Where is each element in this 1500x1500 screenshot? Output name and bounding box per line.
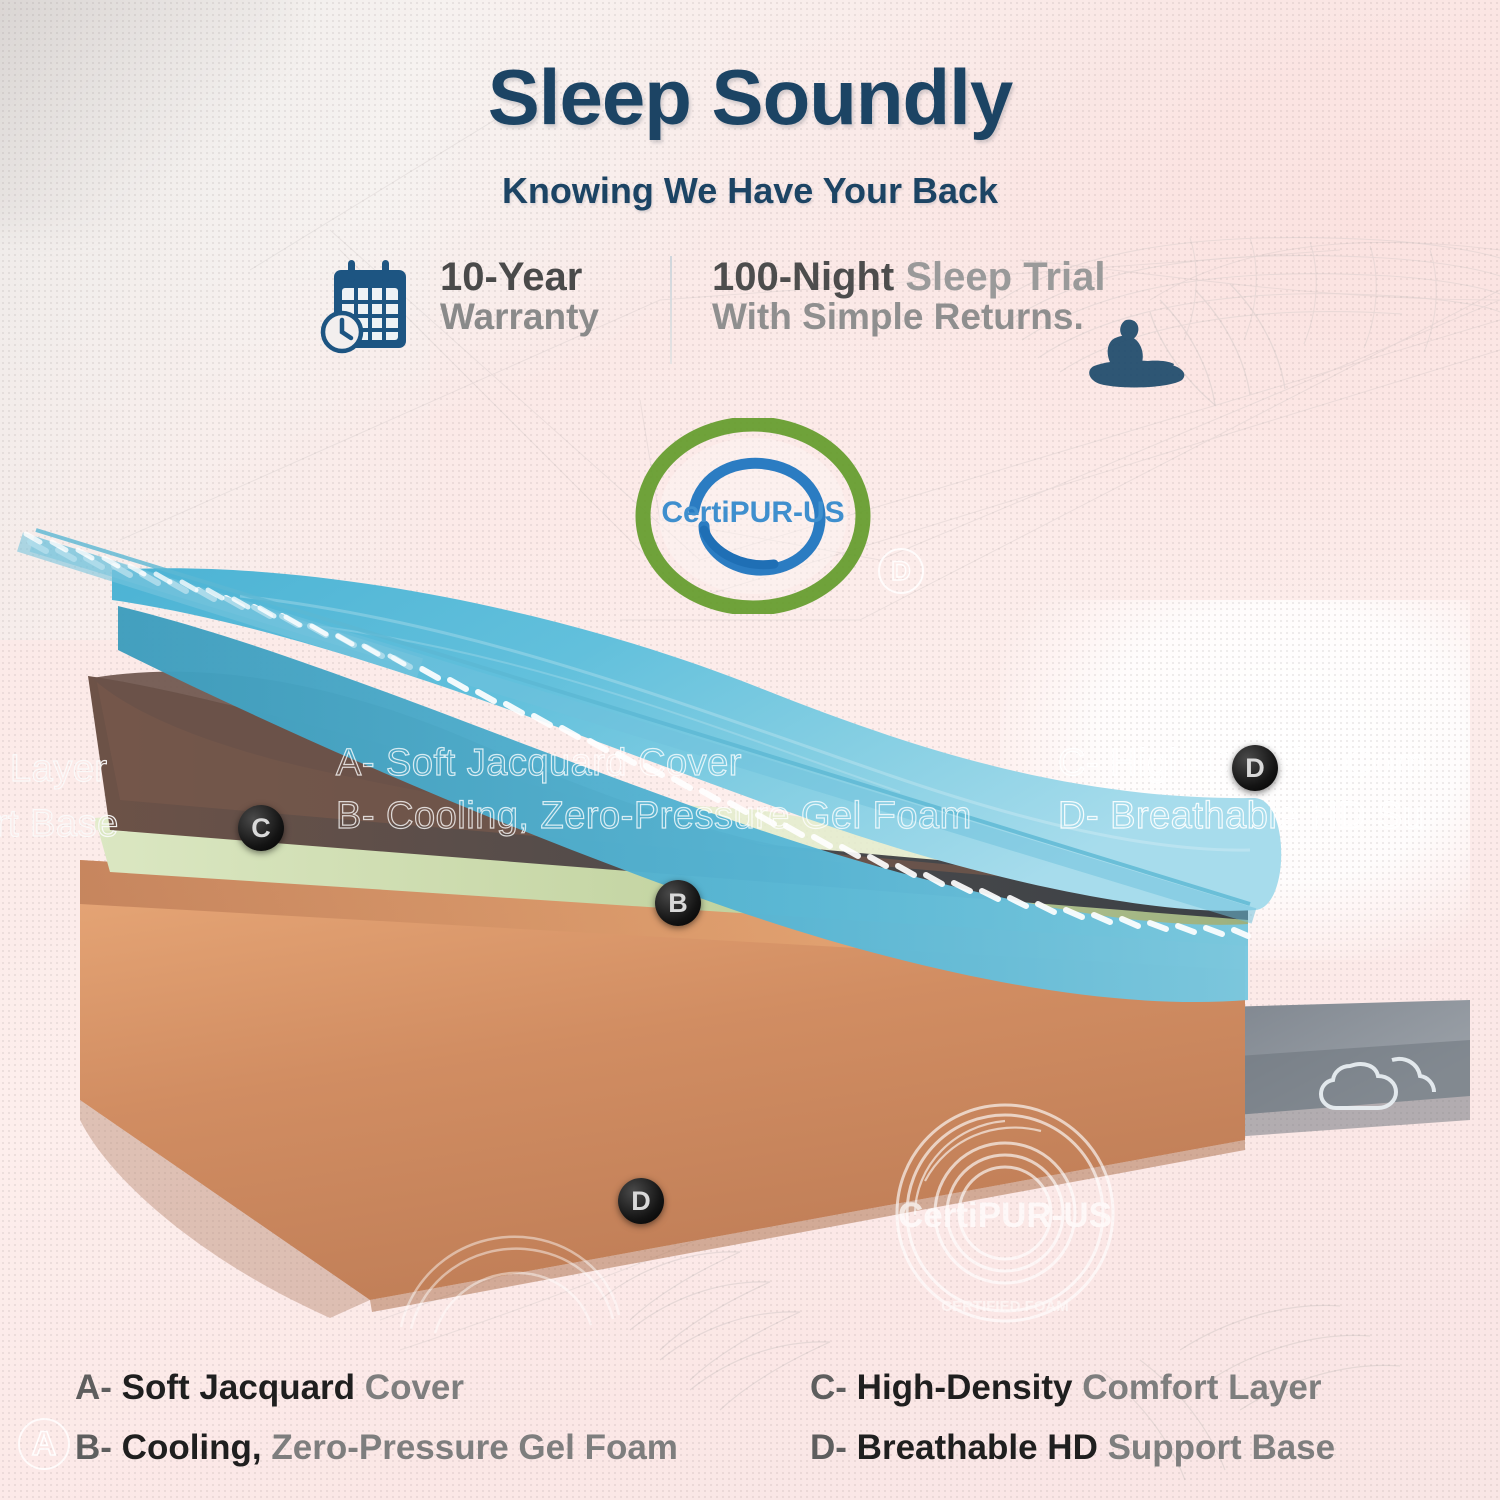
- badge-warranty-line1: 10-Year: [440, 256, 599, 298]
- person-icon: [1082, 318, 1202, 396]
- legend-item-a: A- Soft Jacquard Cover: [75, 1358, 750, 1418]
- badge-warranty-line2: Warranty: [440, 298, 599, 337]
- legend-item-a-rest: Cover: [365, 1368, 464, 1407]
- ghost-text-left-clip-2: pport Base: [0, 803, 119, 846]
- legend-item-d: D- Breathable HD Support Base: [810, 1418, 1500, 1478]
- badge-warranty: 10-Year Warranty: [300, 252, 670, 364]
- certipur-us-watermark: CertiPUR-US CERTIFIED FOAM: [885, 1095, 1125, 1330]
- legend-item-d-key: D-: [810, 1428, 847, 1467]
- ghost-text-d: D- Breathable HD Su: [1058, 795, 1424, 838]
- badge-warranty-text: 10-Year Warranty: [440, 252, 599, 337]
- badge-sleep-trial-line2: With Simple Returns.: [712, 298, 1105, 337]
- calendar-clock-icon: [312, 256, 422, 364]
- badge-sleep-trial-nights: 100-Night: [712, 255, 894, 299]
- legend-item-c-key: C-: [810, 1368, 847, 1407]
- certipur-us-watermark-secondary: [395, 1215, 625, 1335]
- page-title: Sleep Soundly: [0, 52, 1500, 143]
- marker-support-base-top[interactable]: D: [1232, 745, 1278, 791]
- marker-comfort-layer[interactable]: C: [238, 805, 284, 851]
- badge-sleep-trial-text: 100-Night Sleep Trial With Simple Return…: [712, 252, 1105, 337]
- legend-item-c-strong: High-Density: [857, 1368, 1073, 1407]
- legend-item-c: C- High-Density Comfort Layer: [810, 1358, 1500, 1418]
- ghost-text-a: A- Soft Jacquard Cover: [336, 742, 742, 785]
- legend-item-b-strong: Cooling,: [122, 1428, 262, 1467]
- legend-item-b: B- Cooling, Zero-Pressure Gel Foam: [75, 1418, 750, 1478]
- legend-column-left: A- Soft Jacquard Cover B- Cooling, Zero-…: [0, 1358, 750, 1488]
- mattress-cutaway-illustration: [0, 500, 1500, 1330]
- legend-item-a-strong: Soft Jacquard: [122, 1368, 355, 1407]
- legend-item-d-rest: Support Base: [1108, 1428, 1336, 1467]
- legend-item-b-key: B-: [75, 1428, 112, 1467]
- badge-sleep-trial-label: Sleep Trial: [905, 255, 1105, 299]
- legend-item-c-rest: Comfort Layer: [1082, 1368, 1321, 1407]
- legend-item-a-key: A-: [75, 1368, 112, 1407]
- marker-cover-ghost[interactable]: D: [878, 548, 924, 594]
- guarantee-badges: 10-Year Warranty 100-Night Sleep Trial W…: [300, 252, 1210, 367]
- certipur-us-watermark-ring-text: CERTIFIED FOAM: [941, 1298, 1069, 1315]
- certipur-us-watermark-text: CertiPUR-US: [898, 1196, 1112, 1235]
- badge-sleep-trial-line1: 100-Night Sleep Trial: [712, 256, 1105, 298]
- marker-cover[interactable]: A: [18, 1418, 70, 1470]
- page-subtitle: Knowing We Have Your Back: [0, 170, 1500, 212]
- legend-item-b-rest: Zero-Pressure Gel Foam: [271, 1428, 678, 1467]
- marker-gel-foam[interactable]: B: [655, 880, 701, 926]
- legend: A- Soft Jacquard Cover B- Cooling, Zero-…: [0, 1358, 1500, 1488]
- infographic-canvas: Sleep Soundly Knowing We Have Your Back: [0, 0, 1500, 1500]
- ghost-text-left-clip-1: fort Layer: [0, 748, 108, 791]
- legend-item-d-strong: Breathable HD: [857, 1428, 1098, 1467]
- legend-column-right: C- High-Density Comfort Layer D- Breatha…: [750, 1358, 1500, 1488]
- ghost-text-b: B- Cooling, Zero-Pressure Gel Foam: [336, 795, 972, 838]
